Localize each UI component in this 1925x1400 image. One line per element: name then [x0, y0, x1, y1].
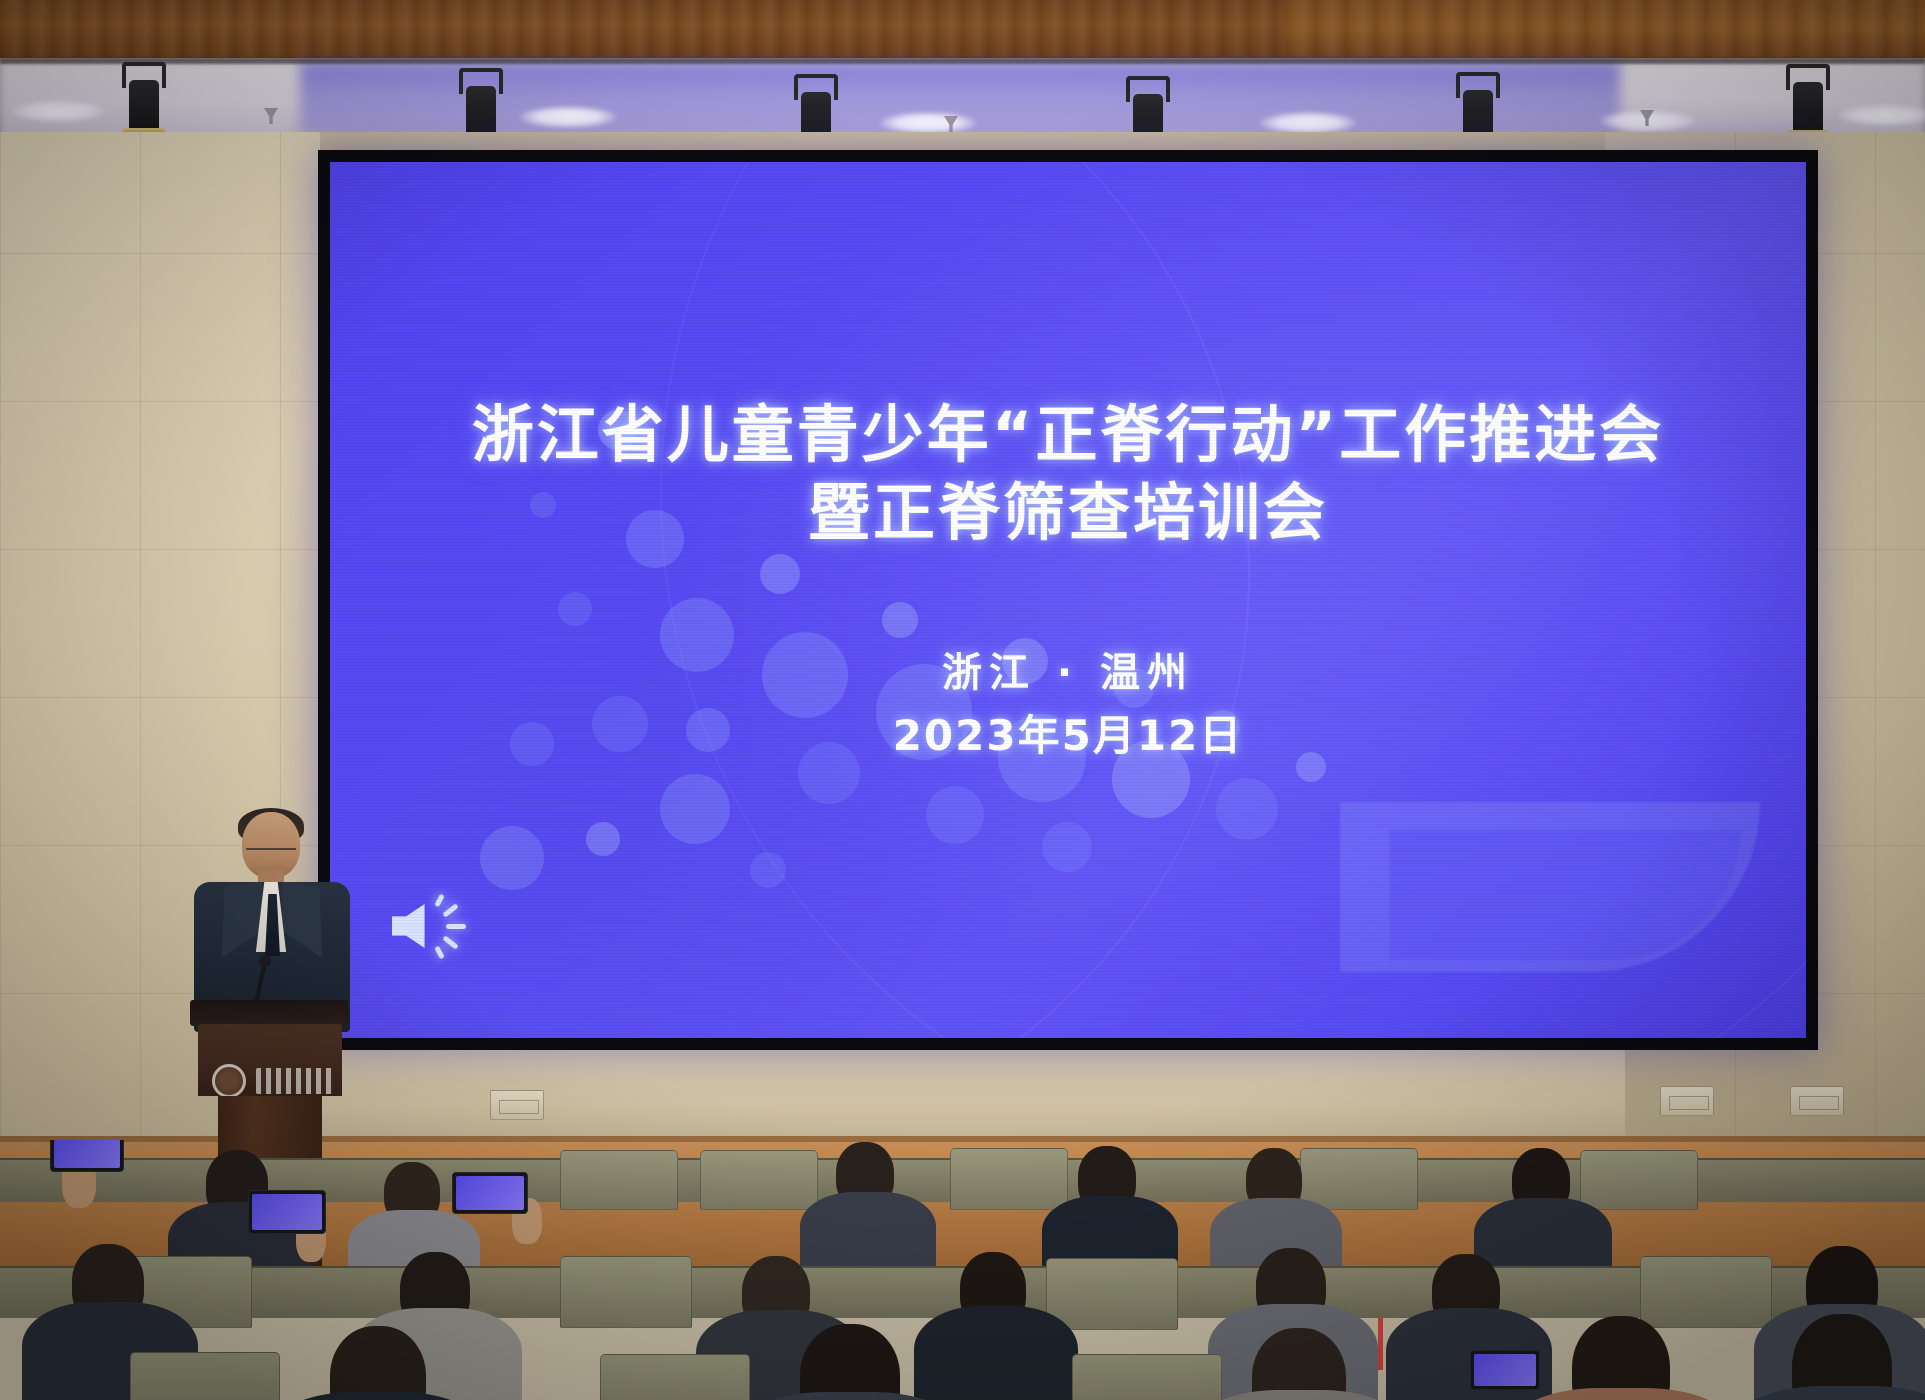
- attendee-lanyard: [1378, 1318, 1383, 1370]
- seat: [130, 1352, 280, 1400]
- attendee-shoulders: [914, 1306, 1078, 1400]
- ceiling-downlight: [1260, 112, 1356, 134]
- decorative-bubble: [926, 786, 984, 844]
- seat: [1300, 1148, 1418, 1210]
- conference-photo-scene: 浙江省儿童青少年“正脊行动”工作推进会 暨正脊筛查培训会 浙江 · 温州 202…: [0, 0, 1925, 1400]
- ceiling-downlight: [10, 100, 106, 122]
- seat: [1580, 1150, 1698, 1210]
- slide-location: 浙江 · 温州: [330, 640, 1806, 698]
- seat: [1046, 1258, 1178, 1330]
- seat: [1072, 1354, 1222, 1400]
- decorative-bubble: [558, 592, 592, 626]
- podium-nameplate: [256, 1068, 334, 1094]
- ceiling-downlight: [1838, 104, 1925, 126]
- seat: [600, 1354, 750, 1400]
- ceiling-wood-panel-right: [1285, 0, 1925, 62]
- attendee-phone[interactable]: [452, 1172, 528, 1214]
- decorative-bubble: [586, 822, 620, 856]
- institution-emblem: [212, 1064, 246, 1098]
- presenter-person: [188, 812, 358, 1022]
- decorative-bubble: [750, 852, 786, 888]
- presentation-screen[interactable]: 浙江省儿童青少年“正脊行动”工作推进会 暨正脊筛查培训会 浙江 · 温州 202…: [330, 162, 1806, 1038]
- soffit-shadow-line: [0, 58, 1925, 64]
- decorative-bubble: [882, 602, 918, 638]
- led-screen-frame: 浙江省儿童青少年“正脊行动”工作推进会 暨正脊筛查培训会 浙江 · 温州 202…: [318, 150, 1818, 1050]
- slide-date: 2023年5月12日: [330, 702, 1806, 763]
- ceiling-downlight: [520, 106, 616, 128]
- seat: [950, 1148, 1068, 1210]
- attendee-phone[interactable]: [248, 1190, 326, 1234]
- audience-area: [0, 1140, 1925, 1400]
- seat: [560, 1150, 678, 1210]
- decorative-bubble: [480, 826, 544, 890]
- attendee-phone[interactable]: [1470, 1350, 1540, 1390]
- wall-power-socket: [490, 1090, 544, 1120]
- decorative-bubble: [760, 554, 800, 594]
- slide-title-line-1: 浙江省儿童青少年“正脊行动”工作推进会: [330, 384, 1806, 474]
- decorative-bubble: [660, 774, 730, 844]
- seat: [560, 1256, 692, 1328]
- eyeglasses: [246, 848, 296, 858]
- attendee-phone[interactable]: [50, 1140, 124, 1172]
- wall-power-socket: [1660, 1086, 1714, 1116]
- decorative-bubble: [1216, 778, 1278, 840]
- seat: [1640, 1256, 1772, 1328]
- wall-power-socket: [1790, 1086, 1844, 1116]
- speaker-volume-icon: [392, 890, 478, 962]
- ceiling-downlight: [880, 112, 976, 134]
- slide-title-line-2: 暨正脊筛查培训会: [330, 462, 1806, 552]
- seat: [700, 1150, 818, 1210]
- decorative-bubble: [1042, 822, 1092, 872]
